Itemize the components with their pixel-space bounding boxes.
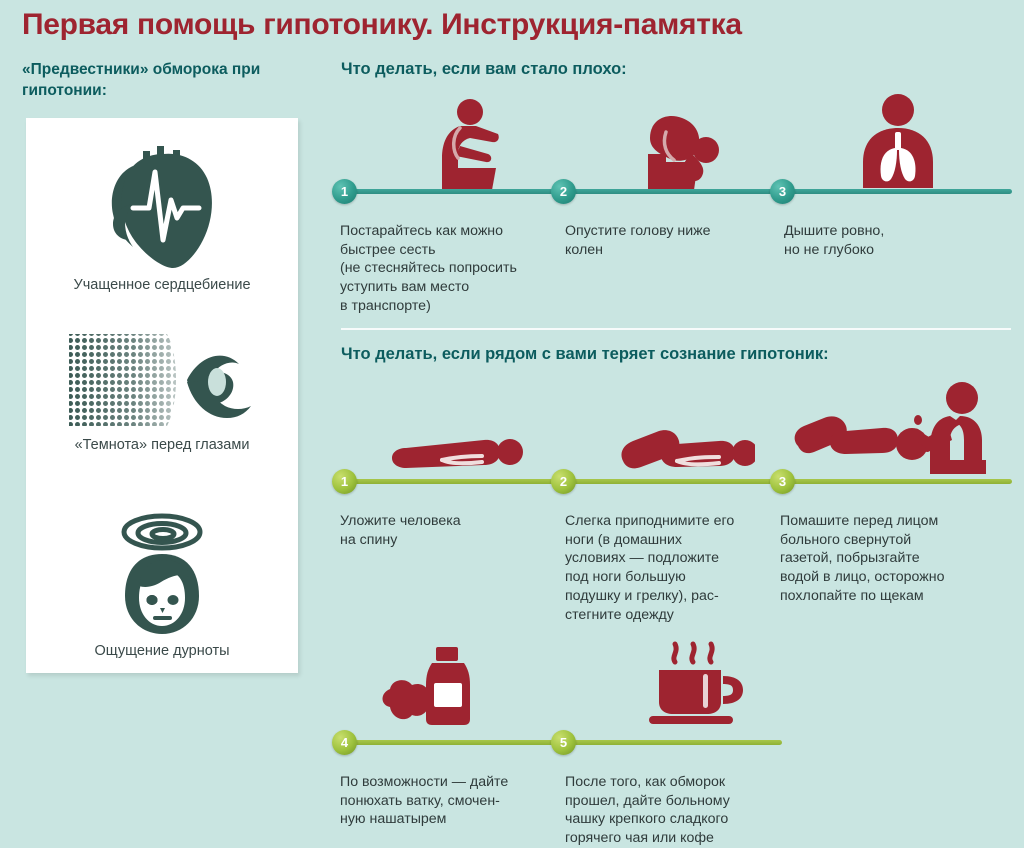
infographic-page: Первая помощь гипотонику. Инструкция-пам… (0, 0, 1024, 847)
section-divider (341, 328, 1011, 330)
precursors-card: Учащенное сердцебиение (26, 118, 298, 673)
precursor-item-dizziness: Ощущение дурноты (26, 508, 298, 660)
hot-tea-cup-icon (645, 640, 755, 728)
step-text-1-2: Опустите голову ниже колен (565, 222, 775, 259)
step-marker-1[interactable]: 1 (332, 179, 357, 204)
timeline-rail-section-1 (352, 189, 1012, 194)
person-sprinkling-water-icon (790, 378, 990, 480)
heart-pulse-icon (26, 144, 298, 270)
step-marker-4[interactable]: 4 (332, 730, 357, 755)
section-2-heading: Что делать, если рядом с вами теряет соз… (341, 345, 829, 364)
section-1-heading: Что делать, если вам стало плохо: (341, 60, 627, 79)
person-lungs-breathing-icon (855, 92, 941, 188)
person-lying-legs-raised-icon (615, 425, 755, 477)
page-title: Первая помощь гипотонику. Инструкция-пам… (22, 8, 1002, 41)
ammonia-bottle-cotton-icon (378, 645, 488, 727)
step-text-2-4: По возможности — дайте понюхать ватку, с… (340, 773, 550, 829)
step-text-2-5: После того, как обморок прошел, дайте бо… (565, 773, 790, 848)
step-text-1-1: Постарайтесь как можно быстрее сесть (не… (340, 222, 550, 316)
dizzy-head-icon (26, 508, 298, 636)
precursor-caption: Учащенное сердцебиение (26, 276, 298, 294)
timeline-rail-section-2-row-1 (352, 479, 1012, 484)
precursor-item-heart: Учащенное сердцебиение (26, 144, 298, 294)
darkness-eye-icon (26, 330, 298, 430)
person-head-below-knees-icon (640, 110, 732, 190)
step-text-1-3: Дышите ровно, но не глубоко (784, 222, 999, 259)
step-marker-3[interactable]: 3 (770, 179, 795, 204)
step-marker-2[interactable]: 2 (551, 179, 576, 204)
step-marker-2[interactable]: 2 (551, 469, 576, 494)
sidebar-heading: «Предвестники» обморока при гипотонии: (22, 60, 312, 102)
step-marker-1[interactable]: 1 (332, 469, 357, 494)
step-text-2-3: Помашите перед лицом больного свернутой … (780, 512, 1000, 606)
step-text-2-1: Уложите человека на спину (340, 512, 545, 549)
step-marker-3[interactable]: 3 (770, 469, 795, 494)
step-marker-5[interactable]: 5 (551, 730, 576, 755)
step-text-2-2: Слегка приподнимите его ноги (в домашних… (565, 512, 770, 624)
precursor-caption: Ощущение дурноты (26, 642, 298, 660)
precursor-item-darkness: «Темнота» перед глазами (26, 330, 298, 454)
person-lying-flat-icon (388, 430, 523, 476)
person-sitting-icon (430, 98, 520, 190)
precursor-caption: «Темнота» перед глазами (26, 436, 298, 454)
